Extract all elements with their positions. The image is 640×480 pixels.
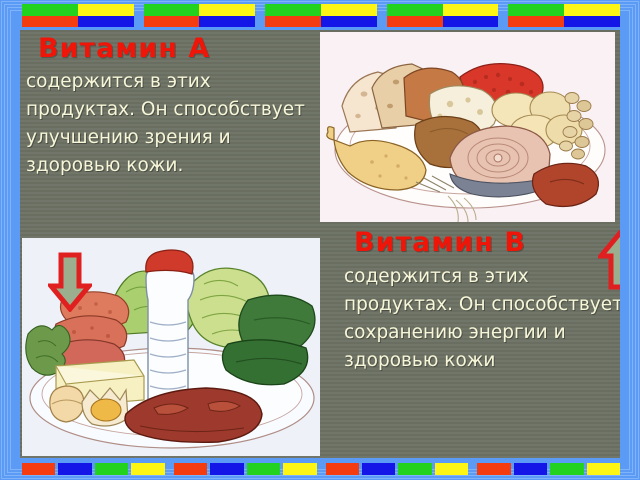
border-block (174, 463, 317, 475)
top-decorative-border (22, 4, 620, 27)
vitamin-b-title: Витамин В (354, 228, 620, 258)
arrow-down-glyph (48, 252, 92, 312)
vitamin-a-body: содержится в этих продуктах. Он способст… (26, 68, 324, 180)
border-block (22, 4, 134, 27)
border-block (326, 463, 469, 475)
plate-of-vitamin-a-foods-illustration (320, 32, 615, 222)
border-block (387, 4, 499, 27)
vitamin-b-body: содержится в этих продуктах. Он способст… (344, 263, 620, 375)
vitamin-a-title: Витамин А (38, 34, 324, 64)
vitamin-a-food-image (320, 32, 615, 222)
arrow-up-glyph (598, 230, 620, 290)
bottom-decorative-border (22, 463, 620, 475)
border-block (144, 4, 256, 27)
arrow-up-icon (598, 230, 620, 290)
vitamin-b-text-block: Витамин В содержится в этих продуктах. О… (332, 228, 620, 375)
border-block (265, 4, 377, 27)
border-block (477, 463, 620, 475)
vitamin-a-text-block: Витамин А содержится в этих продуктах. О… (26, 34, 324, 180)
arrow-down-icon (48, 252, 92, 312)
content-area: Витамин А содержится в этих продуктах. О… (20, 30, 620, 458)
border-block (508, 4, 620, 27)
slide: Витамин А содержится в этих продуктах. О… (0, 0, 640, 480)
border-block (22, 463, 165, 475)
